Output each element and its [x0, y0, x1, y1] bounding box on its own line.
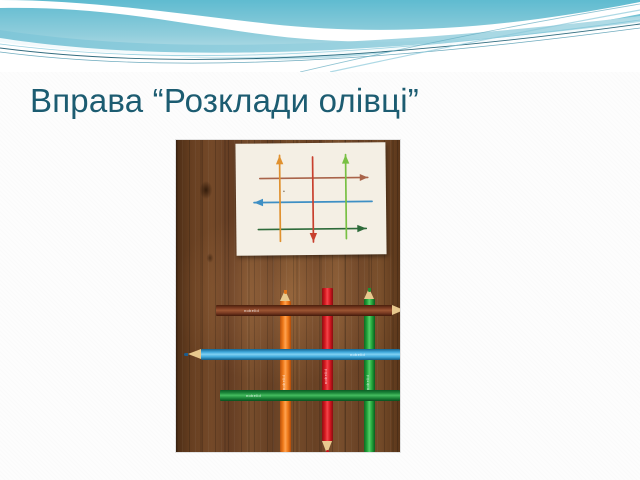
- pencil-brand-label: nobelid: [350, 352, 365, 357]
- pencil-brand-label: nobelid: [281, 375, 286, 390]
- pencil-body: [216, 305, 392, 316]
- slide-title: Вправа “Розклади олівці”: [30, 82, 610, 120]
- pencil-brand-label: nobelid: [365, 375, 370, 390]
- pencil-brown-horizontal: nobelid: [216, 305, 400, 316]
- arrow-horizontal-brown: [260, 174, 368, 182]
- pencil-brand-label: nobelid: [323, 369, 328, 384]
- slide-canvas: Вправа “Розклади олівці”: [0, 0, 640, 480]
- decorative-wave-banner: [0, 0, 640, 72]
- pencil-tip-wood: [188, 349, 201, 359]
- paper-smudge-dot: [283, 190, 285, 192]
- pencil-brand-label: nobelid: [244, 308, 259, 313]
- pencil-lead: [326, 450, 329, 452]
- wave-graphic: [0, 0, 640, 72]
- pencil-brand-label: nobelid: [246, 393, 261, 398]
- arrow-vertical-green: [342, 155, 350, 239]
- arrow-diagram-card: [235, 142, 386, 256]
- pencil-lead: [284, 290, 287, 294]
- pencil-darkgreen-horizontal: nobelid: [220, 390, 400, 401]
- pencil-arrangement-photo: nobelid nobelid nobelid nobelid: [176, 140, 400, 452]
- arrow-horizontal-darkgreen: [258, 225, 366, 234]
- pencil-lead: [368, 288, 371, 292]
- pencil-blue-horizontal: nobelid: [184, 349, 400, 360]
- arrow-diagram: [235, 142, 386, 256]
- arrow-vertical-orange: [276, 155, 284, 241]
- pencil-tip-wood: [392, 305, 400, 315]
- pencil-body: [201, 349, 400, 360]
